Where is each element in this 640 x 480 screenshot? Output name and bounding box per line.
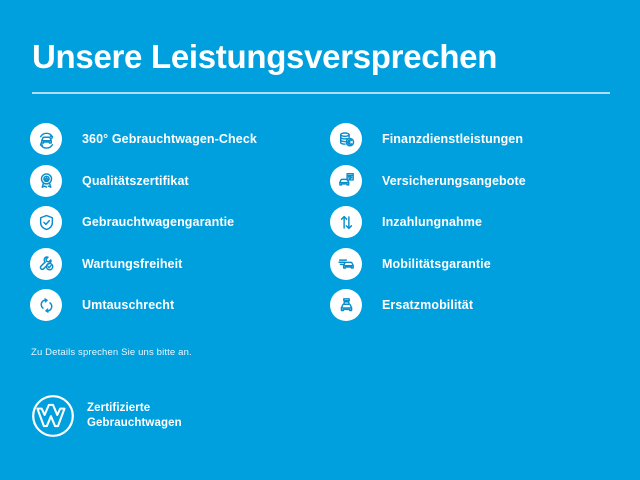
benefit-label: Qualitätszertifikat	[82, 174, 189, 188]
award-rosette-icon	[30, 165, 62, 197]
benefit-label: Finanzdienstleistungen	[382, 132, 523, 146]
wrench-check-icon	[30, 248, 62, 280]
title-divider	[32, 92, 610, 94]
up-down-arrows-icon	[330, 206, 362, 238]
slide-canvas: Unsere Leistungsversprechen 360° Gebrauc…	[0, 0, 640, 480]
car-360-check-icon	[30, 123, 62, 155]
benefit-label: Versicherungsangebote	[382, 174, 526, 188]
benefit-label: Gebrauchtwagengarantie	[82, 215, 234, 229]
benefit-column-right: Finanzdienstleistungen Versicherungsange…	[330, 123, 620, 331]
car-replacement-icon	[330, 289, 362, 321]
benefit-label: Ersatzmobilität	[382, 298, 473, 312]
exchange-arrows-icon	[30, 289, 62, 321]
car-motion-icon	[330, 248, 362, 280]
benefit-label: Inzahlungnahme	[382, 215, 482, 229]
footer-note: Zu Details sprechen Sie uns bitte an.	[31, 347, 192, 358]
volkswagen-logo-icon	[31, 394, 75, 438]
benefit-item-quality-certificate: Qualitätszertifikat	[30, 165, 320, 197]
benefit-label: Wartungsfreiheit	[82, 257, 182, 271]
benefit-item-replacement-mobility: Ersatzmobilität	[330, 289, 620, 321]
brand-line-1: Zertifizierte	[87, 402, 150, 414]
car-document-icon	[330, 165, 362, 197]
benefit-item-warranty: Gebrauchtwagengarantie	[30, 206, 320, 238]
benefit-item-mobility-guarantee: Mobilitätsgarantie	[330, 248, 620, 280]
benefit-item-insurance-offers: Versicherungsangebote	[330, 165, 620, 197]
brand-lockup: Zertifizierte Gebrauchtwagen	[31, 394, 182, 438]
benefit-item-maintenance-free: Wartungsfreiheit	[30, 248, 320, 280]
benefit-label: 360° Gebrauchtwagen-Check	[82, 132, 257, 146]
brand-line-2: Gebrauchtwagen	[87, 417, 182, 429]
benefit-item-financial-services: Finanzdienstleistungen	[330, 123, 620, 155]
shield-check-icon	[30, 206, 62, 238]
benefit-item-trade-in: Inzahlungnahme	[330, 206, 620, 238]
benefit-item-exchange-right: Umtauschrecht	[30, 289, 320, 321]
brand-text: Zertifizierte Gebrauchtwagen	[87, 401, 182, 431]
benefit-label: Umtauschrecht	[82, 298, 174, 312]
benefit-column-left: 360° Gebrauchtwagen-Check Qualitätszerti…	[30, 123, 320, 331]
benefit-item-360-check: 360° Gebrauchtwagen-Check	[30, 123, 320, 155]
page-title: Unsere Leistungsversprechen	[32, 37, 497, 77]
benefit-label: Mobilitätsgarantie	[382, 257, 491, 271]
coins-stack-icon	[330, 123, 362, 155]
